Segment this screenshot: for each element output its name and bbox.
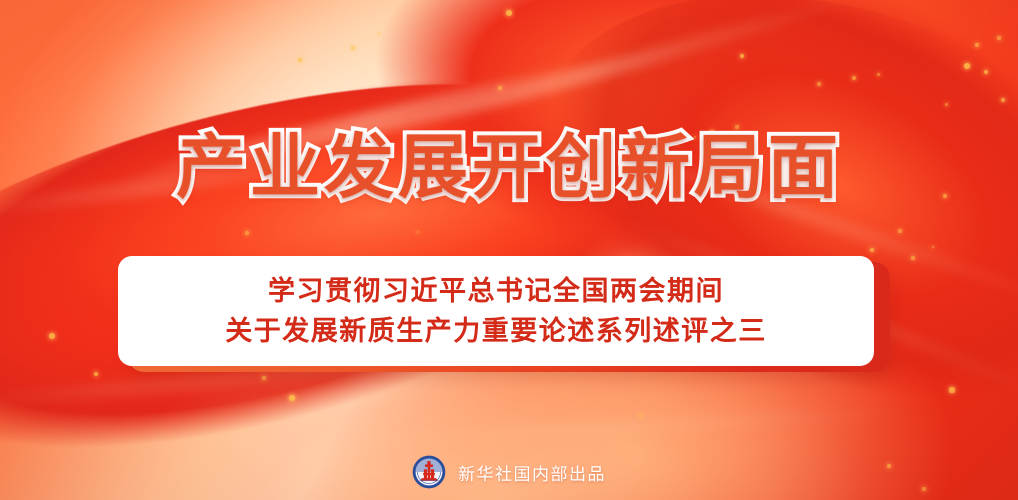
news-banner: 产业发展开创新局面 学习贯彻习近平总书记全国两会期间 关于发展新质生产力重要论述… (0, 0, 1018, 500)
xinhua-logo-svg (412, 455, 446, 489)
background-vignette (0, 0, 1018, 500)
subtitle-line-1: 学习贯彻习近平总书记全国两会期间 (268, 271, 724, 311)
footer-credit-text: 新华社国内部出品 (458, 460, 606, 485)
footer-credit: 新华社国内部出品 (0, 452, 1018, 492)
subtitle-card: 学习贯彻习近平总书记全国两会期间 关于发展新质生产力重要论述系列述评之三 (118, 256, 874, 366)
xinhua-news-agency-logo-icon (412, 455, 446, 489)
subtitle-line-2: 关于发展新质生产力重要论述系列述评之三 (225, 311, 767, 351)
banner-title: 产业发展开创新局面 (176, 126, 842, 208)
title-container: 产业发展开创新局面 (0, 126, 1018, 208)
